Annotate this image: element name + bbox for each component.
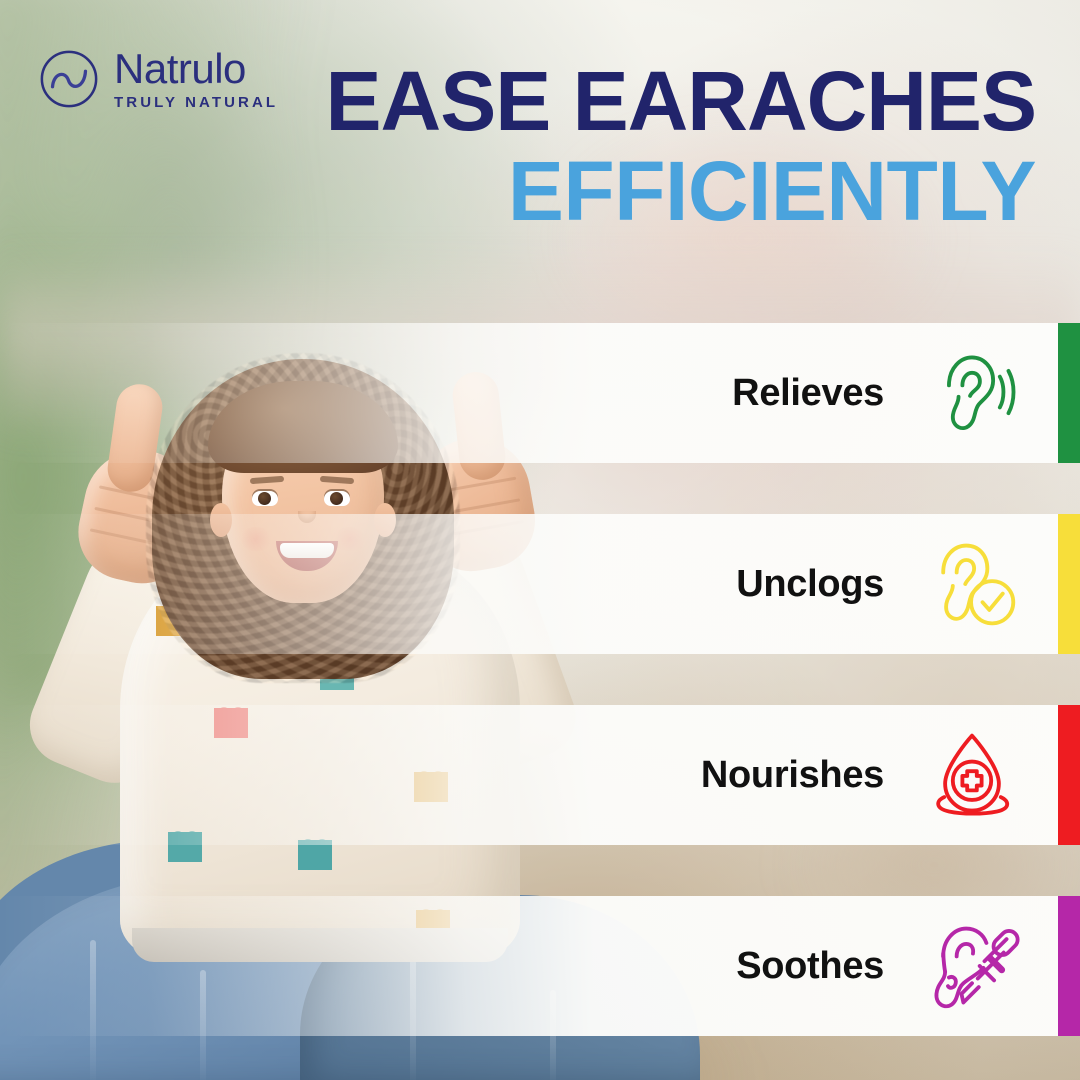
feature-label: Unclogs	[736, 563, 884, 606]
feature-content: Soothes	[736, 918, 1080, 1014]
feature-label: Relieves	[732, 372, 884, 415]
feature-list: Relieves Unclogs	[0, 323, 1080, 1080]
ear-with-checkmark-icon	[924, 536, 1020, 632]
feature-content: Nourishes	[701, 727, 1080, 823]
brand-logo[interactable]: Natrulo TRULY NATURAL	[38, 48, 278, 110]
product-marketing-poster: Natrulo TRULY NATURAL EASE EARACHES EFFI…	[0, 0, 1080, 1080]
ear-with-dropper-icon	[924, 918, 1020, 1014]
feature-label: Nourishes	[701, 754, 884, 797]
feature-content: Unclogs	[736, 536, 1080, 632]
brand-name: Natrulo	[114, 48, 278, 90]
page-title: EASE EARACHES EFFICIENTLY	[326, 62, 1036, 232]
brand-tagline: TRULY NATURAL	[114, 95, 278, 110]
feature-label: Soothes	[736, 945, 884, 988]
headline-line-2: EFFICIENTLY	[326, 152, 1036, 232]
feature-content: Relieves	[732, 345, 1080, 441]
ear-with-soundwaves-icon	[924, 345, 1020, 441]
natrulo-circle-wave-mark-icon	[38, 48, 100, 110]
feature-row-relieves: Relieves	[0, 323, 1080, 463]
feature-row-soothes: Soothes	[0, 896, 1080, 1036]
headline-line-1: EASE EARACHES	[326, 62, 1036, 142]
feature-row-unclogs: Unclogs	[0, 514, 1080, 654]
droplet-with-medical-cross-icon	[924, 727, 1020, 823]
feature-row-nourishes: Nourishes	[0, 705, 1080, 845]
brand-wordmark: Natrulo TRULY NATURAL	[114, 48, 278, 110]
